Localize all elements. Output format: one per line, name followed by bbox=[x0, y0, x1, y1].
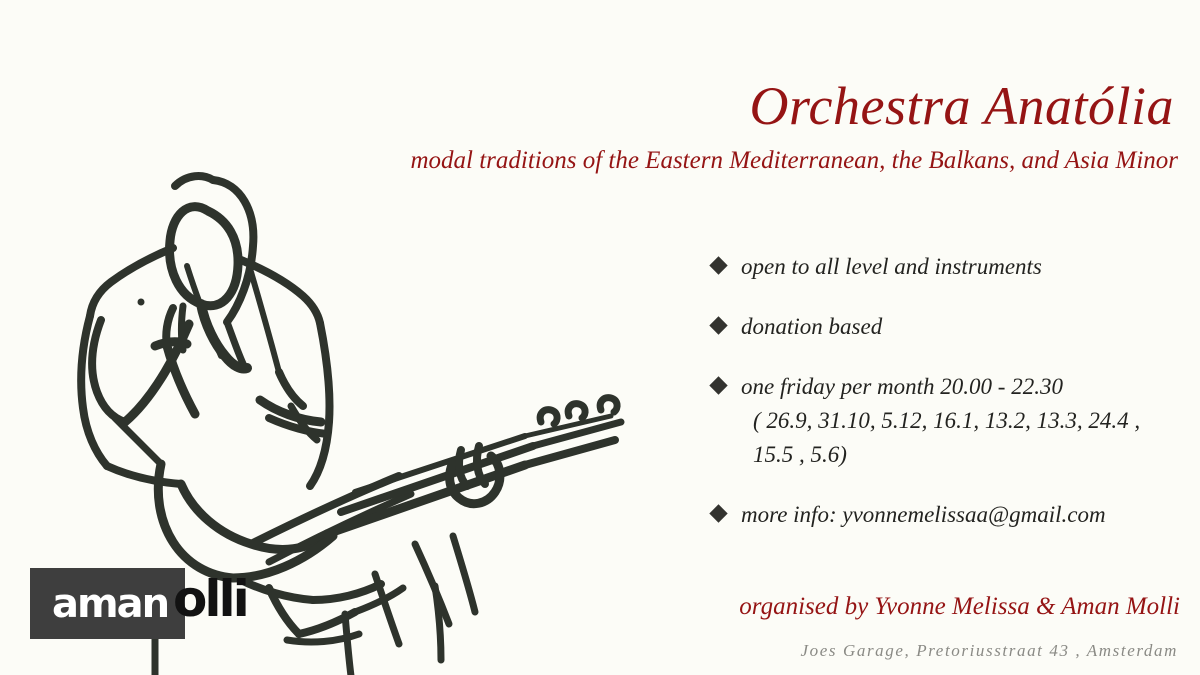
list-item: more info: yvonnemelissaa@gmail.com bbox=[712, 498, 1192, 532]
poster-subtitle: modal traditions of the Eastern Mediterr… bbox=[410, 146, 1178, 176]
schedule-dates-line-2: 15.5 , 5.6) bbox=[741, 438, 1192, 472]
schedule-line: one friday per month 20.00 - 22.30 bbox=[741, 374, 1063, 399]
amanolli-logo: aman olli bbox=[30, 568, 270, 643]
venue-line: Joes Garage, Pretoriusstraat 43 , Amster… bbox=[801, 640, 1178, 662]
diamond-bullet-icon bbox=[709, 504, 727, 522]
list-item-text: donation based bbox=[741, 310, 1192, 344]
details-list: open to all level and instruments donati… bbox=[712, 250, 1192, 558]
poster-root: aman olli Orchestra Anatólia modal tradi… bbox=[0, 0, 1200, 675]
schedule-dates-line-1: ( 26.9, 31.10, 5.12, 16.1, 13.2, 13.3, 2… bbox=[741, 404, 1192, 438]
list-item: donation based bbox=[712, 310, 1192, 344]
contact-email-text[interactable]: more info: yvonnemelissaa@gmail.com bbox=[741, 498, 1192, 532]
diamond-bullet-icon bbox=[709, 256, 727, 274]
list-item-text: open to all level and instruments bbox=[741, 250, 1192, 284]
list-item: one friday per month 20.00 - 22.30 ( 26.… bbox=[712, 370, 1192, 472]
logo-text-aman: aman bbox=[52, 584, 168, 624]
logo-text-olli: olli bbox=[173, 574, 247, 624]
diamond-bullet-icon bbox=[709, 376, 727, 394]
list-item-text-block: one friday per month 20.00 - 22.30 ( 26.… bbox=[741, 370, 1192, 472]
list-item: open to all level and instruments bbox=[712, 250, 1192, 284]
organisers-line: organised by Yvonne Melissa & Aman Molli bbox=[739, 592, 1180, 622]
poster-title: Orchestra Anatólia bbox=[750, 76, 1175, 136]
diamond-bullet-icon bbox=[709, 316, 727, 334]
